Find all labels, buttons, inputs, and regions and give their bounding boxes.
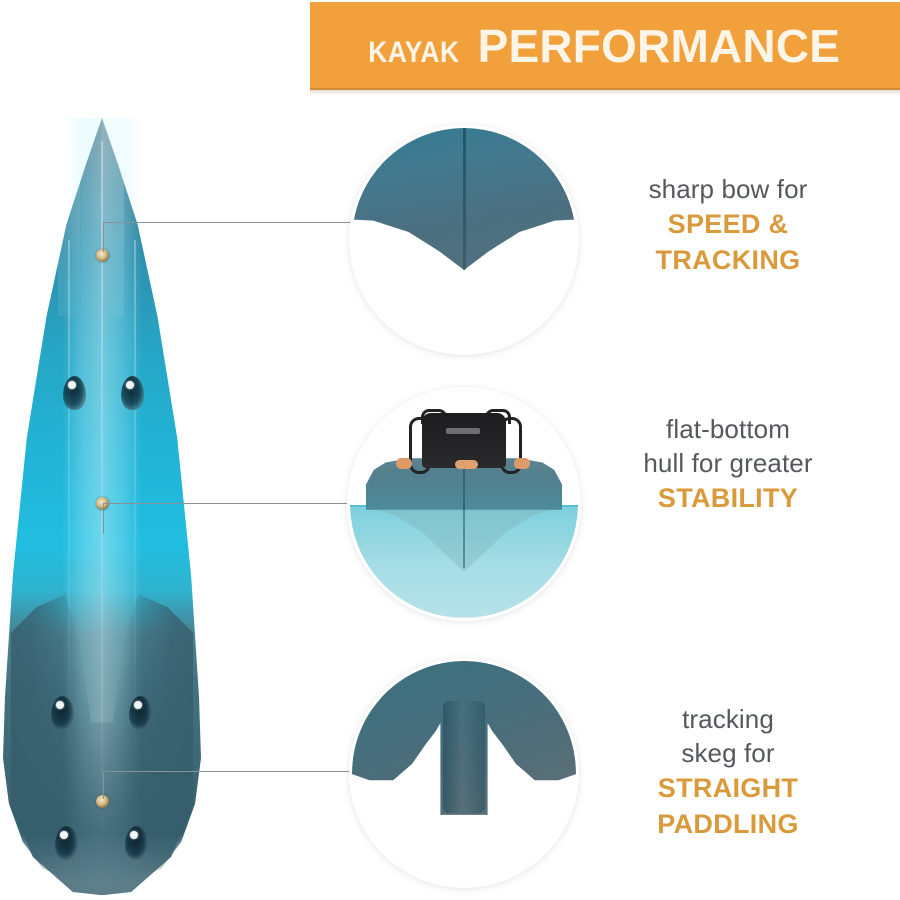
bow-keel-seam [463, 128, 466, 270]
detail-circle-hull [350, 390, 578, 618]
callout-3-plain-line-2: skeg for [578, 736, 878, 770]
skeg-fin [443, 701, 486, 813]
scupper-hole [121, 376, 144, 410]
scupper-hole [51, 696, 74, 730]
leader-stub-1 [103, 222, 104, 252]
scupper-highlight [126, 381, 134, 389]
scupper-hole [125, 826, 148, 860]
scupper-highlight [134, 701, 142, 709]
paddler-hand-right [514, 458, 530, 468]
leader-line-bow [103, 222, 353, 223]
callout-2-plain-line-2: hull for greater [578, 446, 878, 480]
callout-3-plain-line-1: tracking [578, 702, 878, 736]
callout-straight-paddling: tracking skeg for STRAIGHT PADDLING [578, 702, 878, 842]
scupper-hole [55, 826, 78, 860]
kayak-bow-facet-left [58, 118, 80, 316]
paddler-hand-left [396, 458, 412, 468]
leader-stub-2 [103, 503, 104, 534]
scupper-highlight [130, 831, 138, 839]
leader-line-hull [103, 503, 353, 504]
scupper-highlight [56, 701, 64, 709]
seat-handle [446, 428, 480, 435]
kayak-hull-illustration [3, 118, 201, 880]
scupper-hole [63, 376, 86, 410]
kayak-bow-facet-right [102, 118, 124, 316]
callout-3-accent-line-2: PADDLING [578, 806, 878, 842]
kayak-flat-hull-waterline-icon [350, 390, 578, 618]
banner-dropshadow [310, 88, 900, 95]
detail-circle-skeg [352, 661, 576, 885]
callout-1-plain-line-1: sharp bow for [578, 172, 878, 206]
callout-2-plain-line-1: flat-bottom [578, 412, 878, 446]
callout-stability: flat-bottom hull for greater STABILITY [578, 412, 878, 516]
banner-title-group: KAYAK PERFORMANCE [362, 23, 840, 69]
callout-3-accent-line-1: STRAIGHT [578, 770, 878, 806]
leader-stub-3 [103, 771, 104, 799]
callout-1-accent-line-2: TRACKING [578, 242, 878, 278]
kayak-tracking-skeg-icon [352, 661, 576, 885]
hull-keel-seam [463, 458, 465, 567]
paddler-hand-center [455, 460, 478, 469]
callout-2-accent-line-1: STABILITY [578, 480, 878, 516]
detail-circle-bow [352, 128, 576, 352]
header-banner: KAYAK PERFORMANCE [310, 2, 900, 90]
infographic-canvas: KAYAK PERFORMANCE [0, 0, 900, 900]
leader-line-skeg [103, 771, 356, 772]
page-title: PERFORMANCE [478, 23, 841, 69]
scupper-hole [129, 696, 152, 730]
scupper-highlight [60, 831, 68, 839]
scupper-highlight [68, 381, 76, 389]
banner-eyebrow: KAYAK [368, 38, 459, 68]
kayak-bow-v-hull-icon [352, 128, 576, 352]
callout-speed-tracking: sharp bow for SPEED & TRACKING [578, 172, 878, 278]
callout-1-accent-line-1: SPEED & [578, 206, 878, 242]
